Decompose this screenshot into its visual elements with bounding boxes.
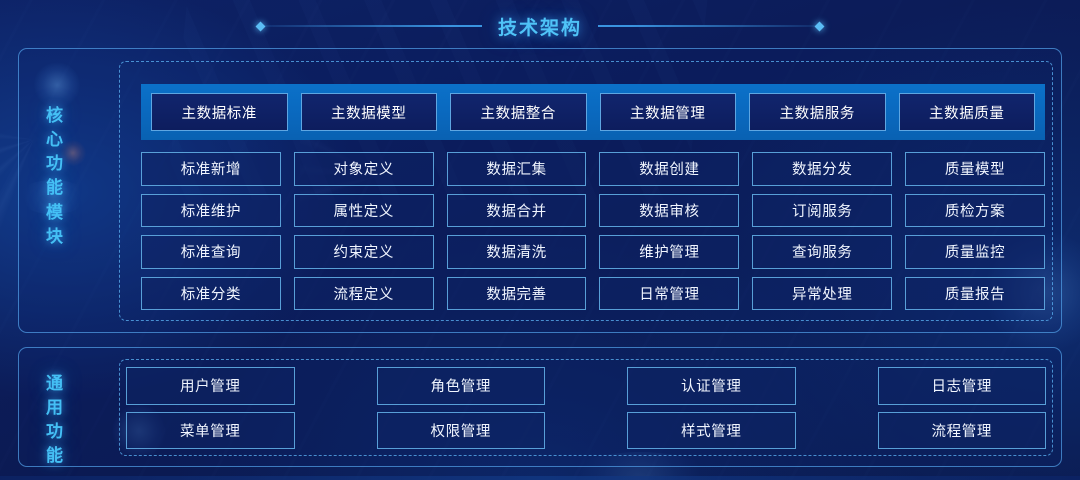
core-module-grid: 标准新增 对象定义 数据汇集 数据创建 数据分发 质量模型 标准维护 属性定义 … bbox=[141, 152, 1045, 310]
common-cell-permission-management[interactable]: 权限管理 bbox=[377, 412, 546, 450]
core-grid-row-4: 标准分类 流程定义 数据完善 日常管理 异常处理 质量报告 bbox=[141, 277, 1045, 311]
label-char: 能 bbox=[34, 444, 76, 468]
core-column-header-master-data-integration[interactable]: 主数据整合 bbox=[450, 93, 587, 131]
label-char: 通 bbox=[34, 372, 76, 396]
label-char: 功 bbox=[34, 420, 76, 444]
core-cell-r4c6[interactable]: 质量报告 bbox=[905, 277, 1045, 311]
core-cell-r2c3[interactable]: 数据合并 bbox=[447, 194, 587, 228]
core-cell-r4c3[interactable]: 数据完善 bbox=[447, 277, 587, 311]
label-char: 用 bbox=[34, 396, 76, 420]
core-cell-r2c4[interactable]: 数据审核 bbox=[599, 194, 739, 228]
label-char: 核 bbox=[34, 104, 76, 128]
label-char: 模 bbox=[34, 201, 76, 225]
core-column-header-band: 主数据标准 主数据模型 主数据整合 主数据管理 主数据服务 主数据质量 bbox=[141, 84, 1045, 140]
core-cell-r1c6[interactable]: 质量模型 bbox=[905, 152, 1045, 186]
common-cell-log-management[interactable]: 日志管理 bbox=[878, 367, 1047, 405]
core-cell-r3c2[interactable]: 约束定义 bbox=[294, 235, 434, 269]
core-column-header-master-data-model[interactable]: 主数据模型 bbox=[301, 93, 438, 131]
diamond-marker-right-icon bbox=[815, 21, 825, 31]
core-cell-r3c5[interactable]: 查询服务 bbox=[752, 235, 892, 269]
core-cell-r4c2[interactable]: 流程定义 bbox=[294, 277, 434, 311]
page-title: 技术架构 bbox=[482, 13, 598, 40]
diagram-title-row: 技术架构 bbox=[0, 12, 1080, 40]
label-char: 块 bbox=[34, 225, 76, 249]
core-cell-r1c4[interactable]: 数据创建 bbox=[599, 152, 739, 186]
architecture-diagram: 技术架构 核 心 功 能 模 块 主数据标准 主数据模型 主数据整合 主数据管理… bbox=[0, 0, 1080, 480]
diamond-marker-left-icon bbox=[256, 21, 266, 31]
core-cell-r4c1[interactable]: 标准分类 bbox=[141, 277, 281, 311]
core-cell-r1c1[interactable]: 标准新增 bbox=[141, 152, 281, 186]
core-cell-r2c1[interactable]: 标准维护 bbox=[141, 194, 281, 228]
common-cell-menu-management[interactable]: 菜单管理 bbox=[126, 412, 295, 450]
core-column-header-master-data-management[interactable]: 主数据管理 bbox=[600, 93, 737, 131]
core-cell-r3c1[interactable]: 标准查询 bbox=[141, 235, 281, 269]
core-grid-row-2: 标准维护 属性定义 数据合并 数据审核 订阅服务 质检方案 bbox=[141, 194, 1045, 228]
core-column-header-master-data-standard[interactable]: 主数据标准 bbox=[151, 93, 288, 131]
core-cell-r2c5[interactable]: 订阅服务 bbox=[752, 194, 892, 228]
bottom-accent-bar bbox=[0, 476, 1080, 480]
core-cell-r2c6[interactable]: 质检方案 bbox=[905, 194, 1045, 228]
core-cell-r1c3[interactable]: 数据汇集 bbox=[447, 152, 587, 186]
core-grid-row-1: 标准新增 对象定义 数据汇集 数据创建 数据分发 质量模型 bbox=[141, 152, 1045, 186]
common-function-grid: 用户管理 角色管理 认证管理 日志管理 菜单管理 权限管理 样式管理 流程管理 bbox=[126, 367, 1046, 449]
title-rule-left bbox=[260, 25, 482, 27]
section-label-common-functions: 通 用 功 能 bbox=[34, 372, 76, 469]
core-cell-r3c4[interactable]: 维护管理 bbox=[599, 235, 739, 269]
core-column-header-row: 主数据标准 主数据模型 主数据整合 主数据管理 主数据服务 主数据质量 bbox=[141, 84, 1045, 140]
label-char: 能 bbox=[34, 176, 76, 200]
title-rule-right bbox=[598, 25, 820, 27]
core-cell-r3c6[interactable]: 质量监控 bbox=[905, 235, 1045, 269]
core-cell-r2c2[interactable]: 属性定义 bbox=[294, 194, 434, 228]
core-cell-r3c3[interactable]: 数据清洗 bbox=[447, 235, 587, 269]
core-column-header-master-data-service[interactable]: 主数据服务 bbox=[749, 93, 886, 131]
core-cell-r4c4[interactable]: 日常管理 bbox=[599, 277, 739, 311]
core-grid-row-3: 标准查询 约束定义 数据清洗 维护管理 查询服务 质量监控 bbox=[141, 235, 1045, 269]
common-cell-style-management[interactable]: 样式管理 bbox=[627, 412, 796, 450]
label-char: 功 bbox=[34, 152, 76, 176]
label-char: 心 bbox=[34, 128, 76, 152]
common-cell-role-management[interactable]: 角色管理 bbox=[377, 367, 546, 405]
section-label-core-function-modules: 核 心 功 能 模 块 bbox=[34, 104, 76, 249]
common-cell-auth-management[interactable]: 认证管理 bbox=[627, 367, 796, 405]
core-column-header-master-data-quality[interactable]: 主数据质量 bbox=[899, 93, 1036, 131]
common-cell-process-management[interactable]: 流程管理 bbox=[878, 412, 1047, 450]
core-cell-r1c2[interactable]: 对象定义 bbox=[294, 152, 434, 186]
core-cell-r4c5[interactable]: 异常处理 bbox=[752, 277, 892, 311]
common-cell-user-management[interactable]: 用户管理 bbox=[126, 367, 295, 405]
core-cell-r1c5[interactable]: 数据分发 bbox=[752, 152, 892, 186]
